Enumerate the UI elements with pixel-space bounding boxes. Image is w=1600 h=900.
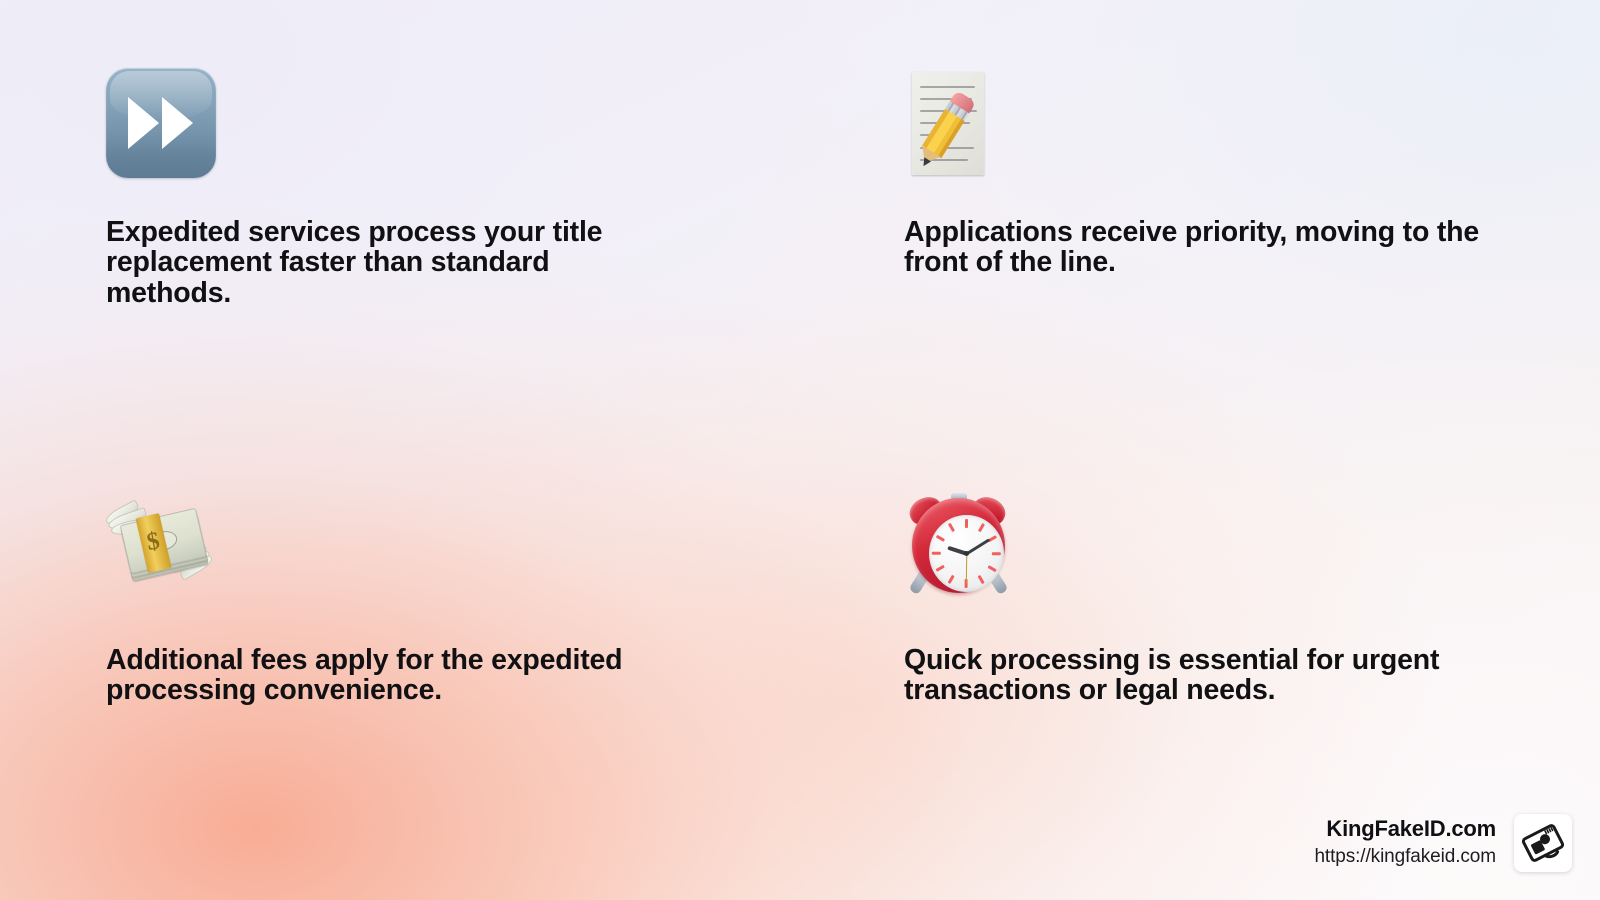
- feature-text-additional-fees: Additional fees apply for the expedited …: [106, 645, 666, 706]
- feature-text-expedited-speed: Expedited services process your title re…: [106, 217, 666, 308]
- feature-cell-urgent-timing: Quick processing is essential for urgent…: [904, 490, 1484, 706]
- memo-icon: [904, 68, 1014, 178]
- fast-forward-triangle-2: [162, 97, 193, 149]
- money-with-wings-icon: $: [106, 490, 216, 600]
- fast-forward-triangle-1: [128, 97, 159, 149]
- feature-cell-priority-application: Applications receive priority, moving to…: [904, 68, 1484, 278]
- dollar-sign-glyph: $: [139, 527, 167, 556]
- fast-forward-icon: [106, 68, 216, 178]
- alarm-clock-face: [929, 515, 1004, 592]
- branding-text: KingFakeID.com https://kingfakeid.com: [1314, 816, 1496, 869]
- feature-text-urgent-timing: Quick processing is essential for urgent…: [904, 645, 1484, 706]
- infographic-canvas: Expedited services process your title re…: [0, 0, 1600, 900]
- brand-url[interactable]: https://kingfakeid.com: [1314, 845, 1496, 869]
- branding: KingFakeID.com https://kingfakeid.com: [1314, 814, 1572, 872]
- feature-cell-expedited-speed: Expedited services process your title re…: [106, 68, 666, 308]
- feature-cell-additional-fees: $ Additional fees apply for the expedite…: [106, 490, 666, 706]
- alarm-clock-icon: [904, 490, 1014, 600]
- id-card-person-icon[interactable]: [1514, 814, 1572, 872]
- feature-grid: Expedited services process your title re…: [0, 0, 1600, 900]
- brand-name: KingFakeID.com: [1314, 816, 1496, 843]
- alarm-clock-case: [912, 498, 1005, 593]
- feature-text-priority-application: Applications receive priority, moving to…: [904, 217, 1484, 278]
